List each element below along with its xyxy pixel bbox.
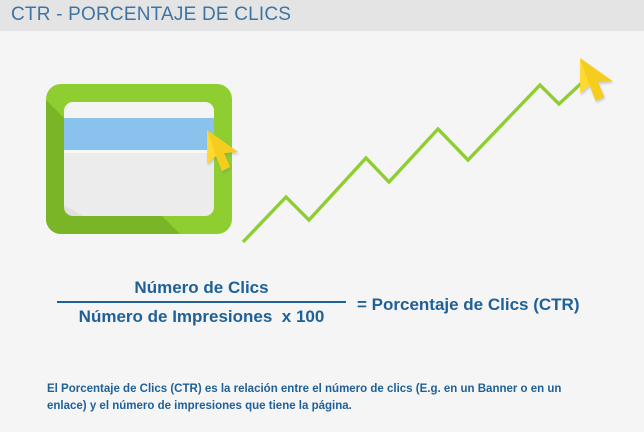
cursor-arrow-icon	[578, 56, 624, 104]
formula-denominator: Número de Impresiones x 100	[57, 303, 346, 328]
card-screen-top-strip	[64, 102, 214, 118]
description-text: El Porcentaje de Clics (CTR) es la relac…	[47, 381, 593, 415]
ctr-infographic-slide: CTR - PORCENTAJE DE CLICS Número de Clic…	[0, 0, 644, 432]
ctr-fraction: Número de Clics Número de Impresiones x …	[57, 277, 346, 328]
formula-numerator: Número de Clics	[57, 277, 346, 301]
card-blue-banner-band	[64, 118, 214, 150]
formula-result: = Porcentaje de Clics (CTR)	[357, 295, 579, 315]
rising-ctr-trend-line	[236, 52, 636, 250]
page-title: CTR - PORCENTAJE DE CLICS	[11, 4, 291, 26]
ctr-formula: Número de Clics Número de Impresiones x …	[57, 277, 617, 337]
card-screen	[64, 102, 214, 216]
card-band-divider	[64, 150, 214, 153]
